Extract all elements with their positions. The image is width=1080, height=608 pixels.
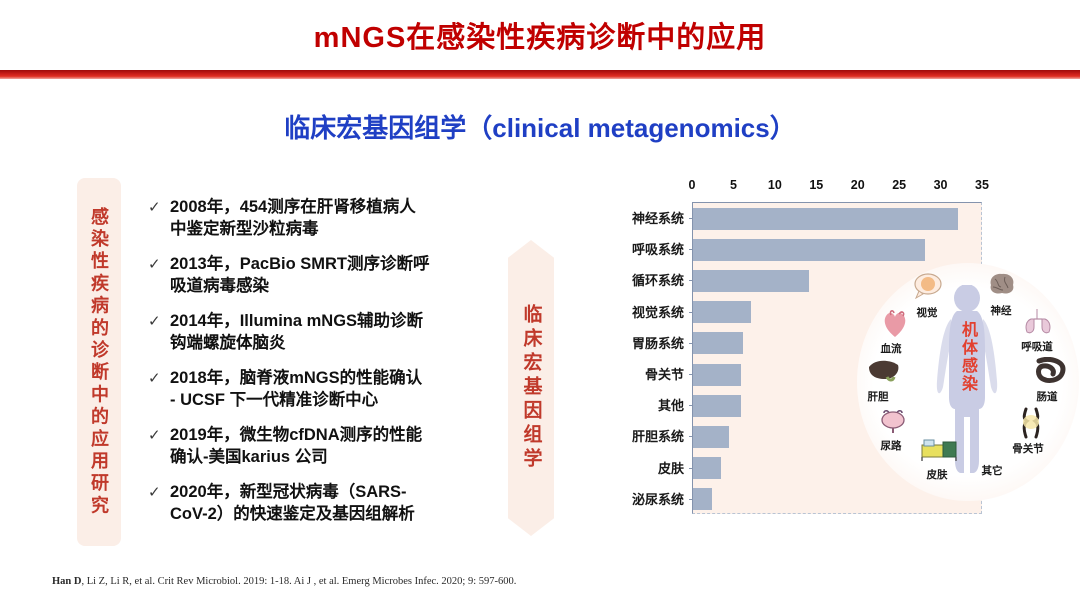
bar-chart-panel: 05101520253035 神经系统呼吸系统循环系统视觉系统胃肠系统骨关节其他… <box>600 178 1000 533</box>
bullet-line: 钩端螺旋体脑炎 <box>170 332 423 354</box>
bullet-line: 2018年，脑脊液mNGS的性能确认 <box>170 367 422 389</box>
bullet-line: 2020年，新型冠状病毒（SARS- <box>170 481 415 503</box>
title-divider-rule <box>0 70 1080 79</box>
chart-bar-row <box>693 203 981 234</box>
left-banner-label: 感染性疾病的诊断中的应用研究 <box>90 207 108 518</box>
bullet-line: 2008年，454测序在肝肾移植病人 <box>170 196 416 218</box>
chart-bar-row <box>693 297 981 328</box>
bullet-line: 吸道病毒感染 <box>170 275 429 297</box>
bullet-item-label: 2018年，脑脊液mNGS的性能确认- UCSF 下一代精准诊断中心 <box>170 367 422 411</box>
bullet-line: CoV-2）的快速鉴定及基因组解析 <box>170 503 415 525</box>
y-axis-category-label: 循环系统 <box>600 264 688 295</box>
chart-category-labels: 神经系统呼吸系统循环系统视觉系统胃肠系统骨关节其他肝胆系统皮肤泌尿系统 <box>600 202 688 514</box>
y-axis-category-label: 神经系统 <box>600 202 688 233</box>
chart-bar <box>693 426 729 448</box>
chart-bars <box>693 203 981 515</box>
chart-bar-row <box>693 453 981 484</box>
y-axis-tick <box>689 405 693 406</box>
y-axis-tick <box>689 436 693 437</box>
chart-bar <box>693 301 751 323</box>
bullet-item-label: 2014年，Illumina mNGS辅助诊断钩端螺旋体脑炎 <box>170 310 423 354</box>
x-axis-tick-label: 10 <box>768 178 782 192</box>
page-title: mNGS在感染性疾病诊断中的应用 <box>0 14 1080 56</box>
bullet-item: ✓2018年，脑脊液mNGS的性能确认- UCSF 下一代精准诊断中心 <box>148 367 498 411</box>
bullet-item: ✓2013年，PacBio SMRT测序诊断呼吸道病毒感染 <box>148 253 498 297</box>
check-icon: ✓ <box>148 196 170 218</box>
y-axis-category-label: 骨关节 <box>600 358 688 389</box>
chart-plot-area: 机体感染 视觉神经血流呼吸道肝胆肠道尿路骨关节皮肤其它 <box>692 202 982 514</box>
bullet-item-label: 2019年，微生物cfDNA测序的性能确认-美国karius 公司 <box>170 424 422 468</box>
x-axis-tick-label: 25 <box>892 178 906 192</box>
y-axis-category-label: 泌尿系统 <box>600 483 688 514</box>
y-axis-category-label: 视觉系统 <box>600 296 688 327</box>
x-axis-tick-label: 15 <box>809 178 823 192</box>
chart-bar-row <box>693 390 981 421</box>
knee-joint-icon <box>1017 407 1045 439</box>
y-axis-tick <box>689 343 693 344</box>
bullet-line: 2014年，Illumina mNGS辅助诊断 <box>170 310 423 332</box>
left-vertical-banner: 感染性疾病的诊断中的应用研究 <box>77 178 121 546</box>
chart-bar <box>693 332 743 354</box>
check-icon: ✓ <box>148 310 170 332</box>
bullet-line: 2019年，微生物cfDNA测序的性能 <box>170 424 422 446</box>
chart-bar-row <box>693 421 981 452</box>
organ-label: 呼吸道 <box>1021 339 1053 354</box>
organ-label: 骨关节 <box>1012 441 1044 456</box>
x-axis-tick-label: 5 <box>730 178 737 192</box>
chart-bar-row <box>693 359 981 390</box>
bullet-item: ✓2019年，微生物cfDNA测序的性能确认-美国karius 公司 <box>148 424 498 468</box>
down-arrow-banner: 临床宏基因组学 <box>508 240 554 536</box>
citation-lead-author: Han D <box>52 576 81 587</box>
chart-bar <box>693 457 721 479</box>
x-axis-tick-label: 30 <box>934 178 948 192</box>
citation-footer: Han D, Li Z, Li R, et al. Crit Rev Micro… <box>52 576 516 587</box>
timeline-bullet-list: ✓2008年，454测序在肝肾移植病人中鉴定新型沙粒病毒✓2013年，PacBi… <box>148 196 498 538</box>
y-axis-category-label: 肝胆系统 <box>600 420 688 451</box>
bullet-item-label: 2020年，新型冠状病毒（SARS-CoV-2）的快速鉴定及基因组解析 <box>170 481 415 525</box>
chart-x-axis: 05101520253035 <box>692 178 982 200</box>
organ-label: 神经 <box>991 303 1012 318</box>
bullet-item: ✓2020年，新型冠状病毒（SARS-CoV-2）的快速鉴定及基因组解析 <box>148 481 498 525</box>
bullet-item: ✓2014年，Illumina mNGS辅助诊断钩端螺旋体脑炎 <box>148 310 498 354</box>
organ-label: 肠道 <box>1037 389 1058 404</box>
citation-rest: , Li Z, Li R, et al. Crit Rev Microbiol.… <box>81 576 516 587</box>
bullet-item: ✓2008年，454测序在肝肾移植病人中鉴定新型沙粒病毒 <box>148 196 498 240</box>
y-axis-tick <box>689 468 693 469</box>
arrow-label: 临床宏基因组学 <box>522 304 541 472</box>
check-icon: ✓ <box>148 253 170 275</box>
check-icon: ✓ <box>148 481 170 503</box>
x-axis-tick-label: 0 <box>689 178 696 192</box>
check-icon: ✓ <box>148 424 170 446</box>
chart-bar-row <box>693 328 981 359</box>
x-axis-tick-label: 35 <box>975 178 989 192</box>
y-axis-tick <box>689 374 693 375</box>
chart-bar-row <box>693 234 981 265</box>
y-axis-tick <box>689 218 693 219</box>
bullet-line: 确认-美国karius 公司 <box>170 446 422 468</box>
chart-bar <box>693 395 741 417</box>
chart-bar-row <box>693 265 981 296</box>
chart-bar <box>693 270 809 292</box>
y-axis-tick <box>689 499 693 500</box>
bullet-item-label: 2008年，454测序在肝肾移植病人中鉴定新型沙粒病毒 <box>170 196 416 240</box>
check-icon: ✓ <box>148 367 170 389</box>
bullet-line: 2013年，PacBio SMRT测序诊断呼 <box>170 253 429 275</box>
chart-bar <box>693 208 958 230</box>
x-axis-tick-label: 20 <box>851 178 865 192</box>
page-subtitle: 临床宏基因组学（clinical metagenomics） <box>0 108 1080 145</box>
y-axis-category-label: 呼吸系统 <box>600 233 688 264</box>
y-axis-category-label: 皮肤 <box>600 452 688 483</box>
bullet-line: 中鉴定新型沙粒病毒 <box>170 218 416 240</box>
bullet-line: - UCSF 下一代精准诊断中心 <box>170 389 422 411</box>
brain-icon <box>987 271 1017 297</box>
organ-label: 其它 <box>982 463 1003 478</box>
y-axis-tick <box>689 249 693 250</box>
chart-bar <box>693 239 925 261</box>
y-axis-tick <box>689 312 693 313</box>
intestine-icon <box>1035 357 1067 385</box>
y-axis-category-label: 胃肠系统 <box>600 327 688 358</box>
bullet-item-label: 2013年，PacBio SMRT测序诊断呼吸道病毒感染 <box>170 253 429 297</box>
chart-bar <box>693 488 712 510</box>
chart-bar <box>693 364 741 386</box>
chart-bar-row <box>693 484 981 515</box>
y-axis-category-label: 其他 <box>600 389 688 420</box>
lungs-icon <box>1023 307 1053 335</box>
y-axis-tick <box>689 280 693 281</box>
